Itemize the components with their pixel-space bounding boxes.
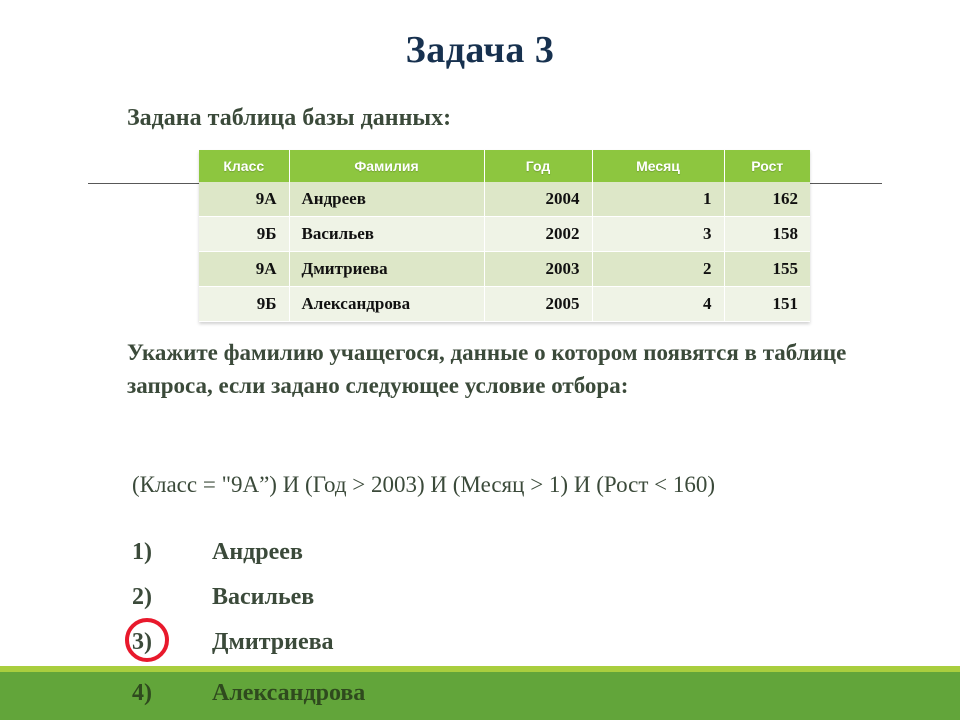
condition-formula: (Класс = "9А”) И (Год > 2003) И (Месяц >… [132, 470, 715, 500]
cell-height: 155 [724, 252, 810, 287]
column-header-class: Класс [199, 150, 289, 182]
cell-class: 9Б [199, 217, 289, 252]
divider-line-left [88, 183, 200, 184]
cell-year: 2002 [484, 217, 592, 252]
table-row: 9Б Васильев 2002 3 158 [199, 217, 810, 252]
option-number: 2) [0, 584, 212, 611]
cell-family: Александрова [289, 287, 484, 322]
cell-year: 2003 [484, 252, 592, 287]
table-header-row: Класс Фамилия Год Месяц Рост [199, 150, 810, 182]
cell-class: 9А [199, 182, 289, 217]
answer-option-4[interactable]: 4) Александрова [0, 680, 960, 707]
intro-text: Задана таблица базы данных: [127, 103, 451, 133]
slide-canvas: Задача 3 Задана таблица базы данных: Кла… [0, 0, 960, 720]
cell-class: 9А [199, 252, 289, 287]
cell-year: 2004 [484, 182, 592, 217]
divider-line-right [810, 183, 882, 184]
option-label: Александрова [212, 680, 365, 707]
answer-options-list: 1) Андреев 2) Васильев 3) Дмитриева [0, 530, 960, 665]
table-row: 9А Дмитриева 2003 2 155 [199, 252, 810, 287]
answer-option-1[interactable]: 1) Андреев [0, 530, 960, 575]
option-number: 1) [0, 539, 212, 566]
cell-class: 9Б [199, 287, 289, 322]
column-header-month: Месяц [592, 150, 724, 182]
answer-option-2[interactable]: 2) Васильев [0, 575, 960, 620]
option-label: Андреев [212, 539, 303, 566]
cell-height: 151 [724, 287, 810, 322]
column-header-height: Рост [724, 150, 810, 182]
table-row: 9А Андреев 2004 1 162 [199, 182, 810, 217]
footer-band: 4) Александрова [0, 666, 960, 720]
cell-height: 162 [724, 182, 810, 217]
cell-family: Дмитриева [289, 252, 484, 287]
cell-year: 2005 [484, 287, 592, 322]
option-number: 4) [0, 680, 212, 707]
table-row: 9Б Александрова 2005 4 151 [199, 287, 810, 322]
column-header-year: Год [484, 150, 592, 182]
option-label: Дмитриева [212, 629, 334, 656]
option-number: 3) [0, 629, 212, 656]
cell-height: 158 [724, 217, 810, 252]
answer-option-3[interactable]: 3) Дмитриева [0, 620, 960, 665]
cell-family: Васильев [289, 217, 484, 252]
page-title: Задача 3 [0, 28, 960, 72]
cell-month: 4 [592, 287, 724, 322]
option-label: Васильев [212, 584, 314, 611]
footer-stripe [0, 666, 960, 672]
question-text: Укажите фамилию учащегося, данные о кото… [127, 336, 927, 402]
cell-family: Андреев [289, 182, 484, 217]
column-header-family: Фамилия [289, 150, 484, 182]
cell-month: 3 [592, 217, 724, 252]
cell-month: 2 [592, 252, 724, 287]
cell-month: 1 [592, 182, 724, 217]
database-table: Класс Фамилия Год Месяц Рост 9А Андреев … [199, 150, 810, 322]
